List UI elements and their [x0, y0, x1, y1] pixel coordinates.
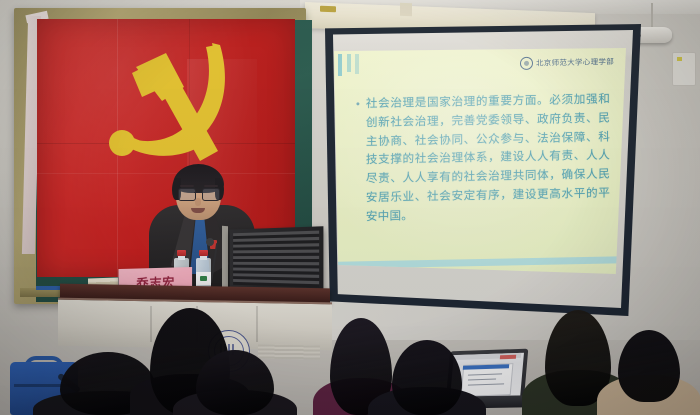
projected-slide: 北京师范大学心理学部 • 社会治理是国家治理的重要方面。必须加强和创新社会治理，…: [334, 48, 626, 274]
bottle-label: [196, 272, 211, 285]
deco-bar: [347, 54, 351, 72]
glasses-bridge: [194, 192, 202, 193]
projector-mount-rod: [651, 3, 653, 29]
speaker-eyebrow: [180, 185, 194, 187]
laptop-window-accent: [500, 355, 516, 360]
desk-panel-seam: [150, 306, 152, 342]
desk-panel-seam: [256, 306, 258, 342]
wall-mounted-device: [672, 52, 696, 86]
speaker-eyebrow: [204, 185, 218, 187]
bottle-cap: [199, 250, 208, 256]
bullet-icon: •: [356, 99, 360, 226]
slide-body: • 社会治理是国家治理的重要方面。必须加强和创新社会治理，完善党委领导、政府负责…: [356, 90, 610, 226]
monitor-side-edge: [222, 226, 228, 292]
deco-bar: [338, 54, 342, 76]
slide-logo-text: 北京师范大学心理学部: [536, 56, 614, 69]
deco-bar: [355, 54, 359, 74]
desk-monitor: [230, 226, 324, 292]
monitor-vent-slats: [233, 231, 319, 288]
speaker-nose: [195, 198, 201, 206]
desk-vent: [258, 344, 320, 359]
slide-institution-logo: 北京师范大学心理学部: [520, 55, 614, 70]
housing-label-tag: [320, 6, 336, 13]
glasses-lens: [178, 188, 196, 201]
lecture-hall-photo: 北京师范大学心理学部 • 社会治理是国家治理的重要方面。必须加强和创新社会治理，…: [0, 0, 700, 415]
bottle-cap: [177, 250, 186, 256]
housing-bracket: [400, 3, 412, 16]
slide-paragraph: 社会治理是国家治理的重要方面。必须加强和创新社会治理，完善党委领导、政府负责、民…: [366, 90, 610, 226]
glasses-lens: [202, 188, 220, 201]
microphone-icon: [206, 238, 214, 246]
hammer-and-sickle-emblem: [92, 31, 242, 181]
slide-decoration-bars: [338, 54, 374, 76]
university-crest-icon: [520, 57, 533, 70]
